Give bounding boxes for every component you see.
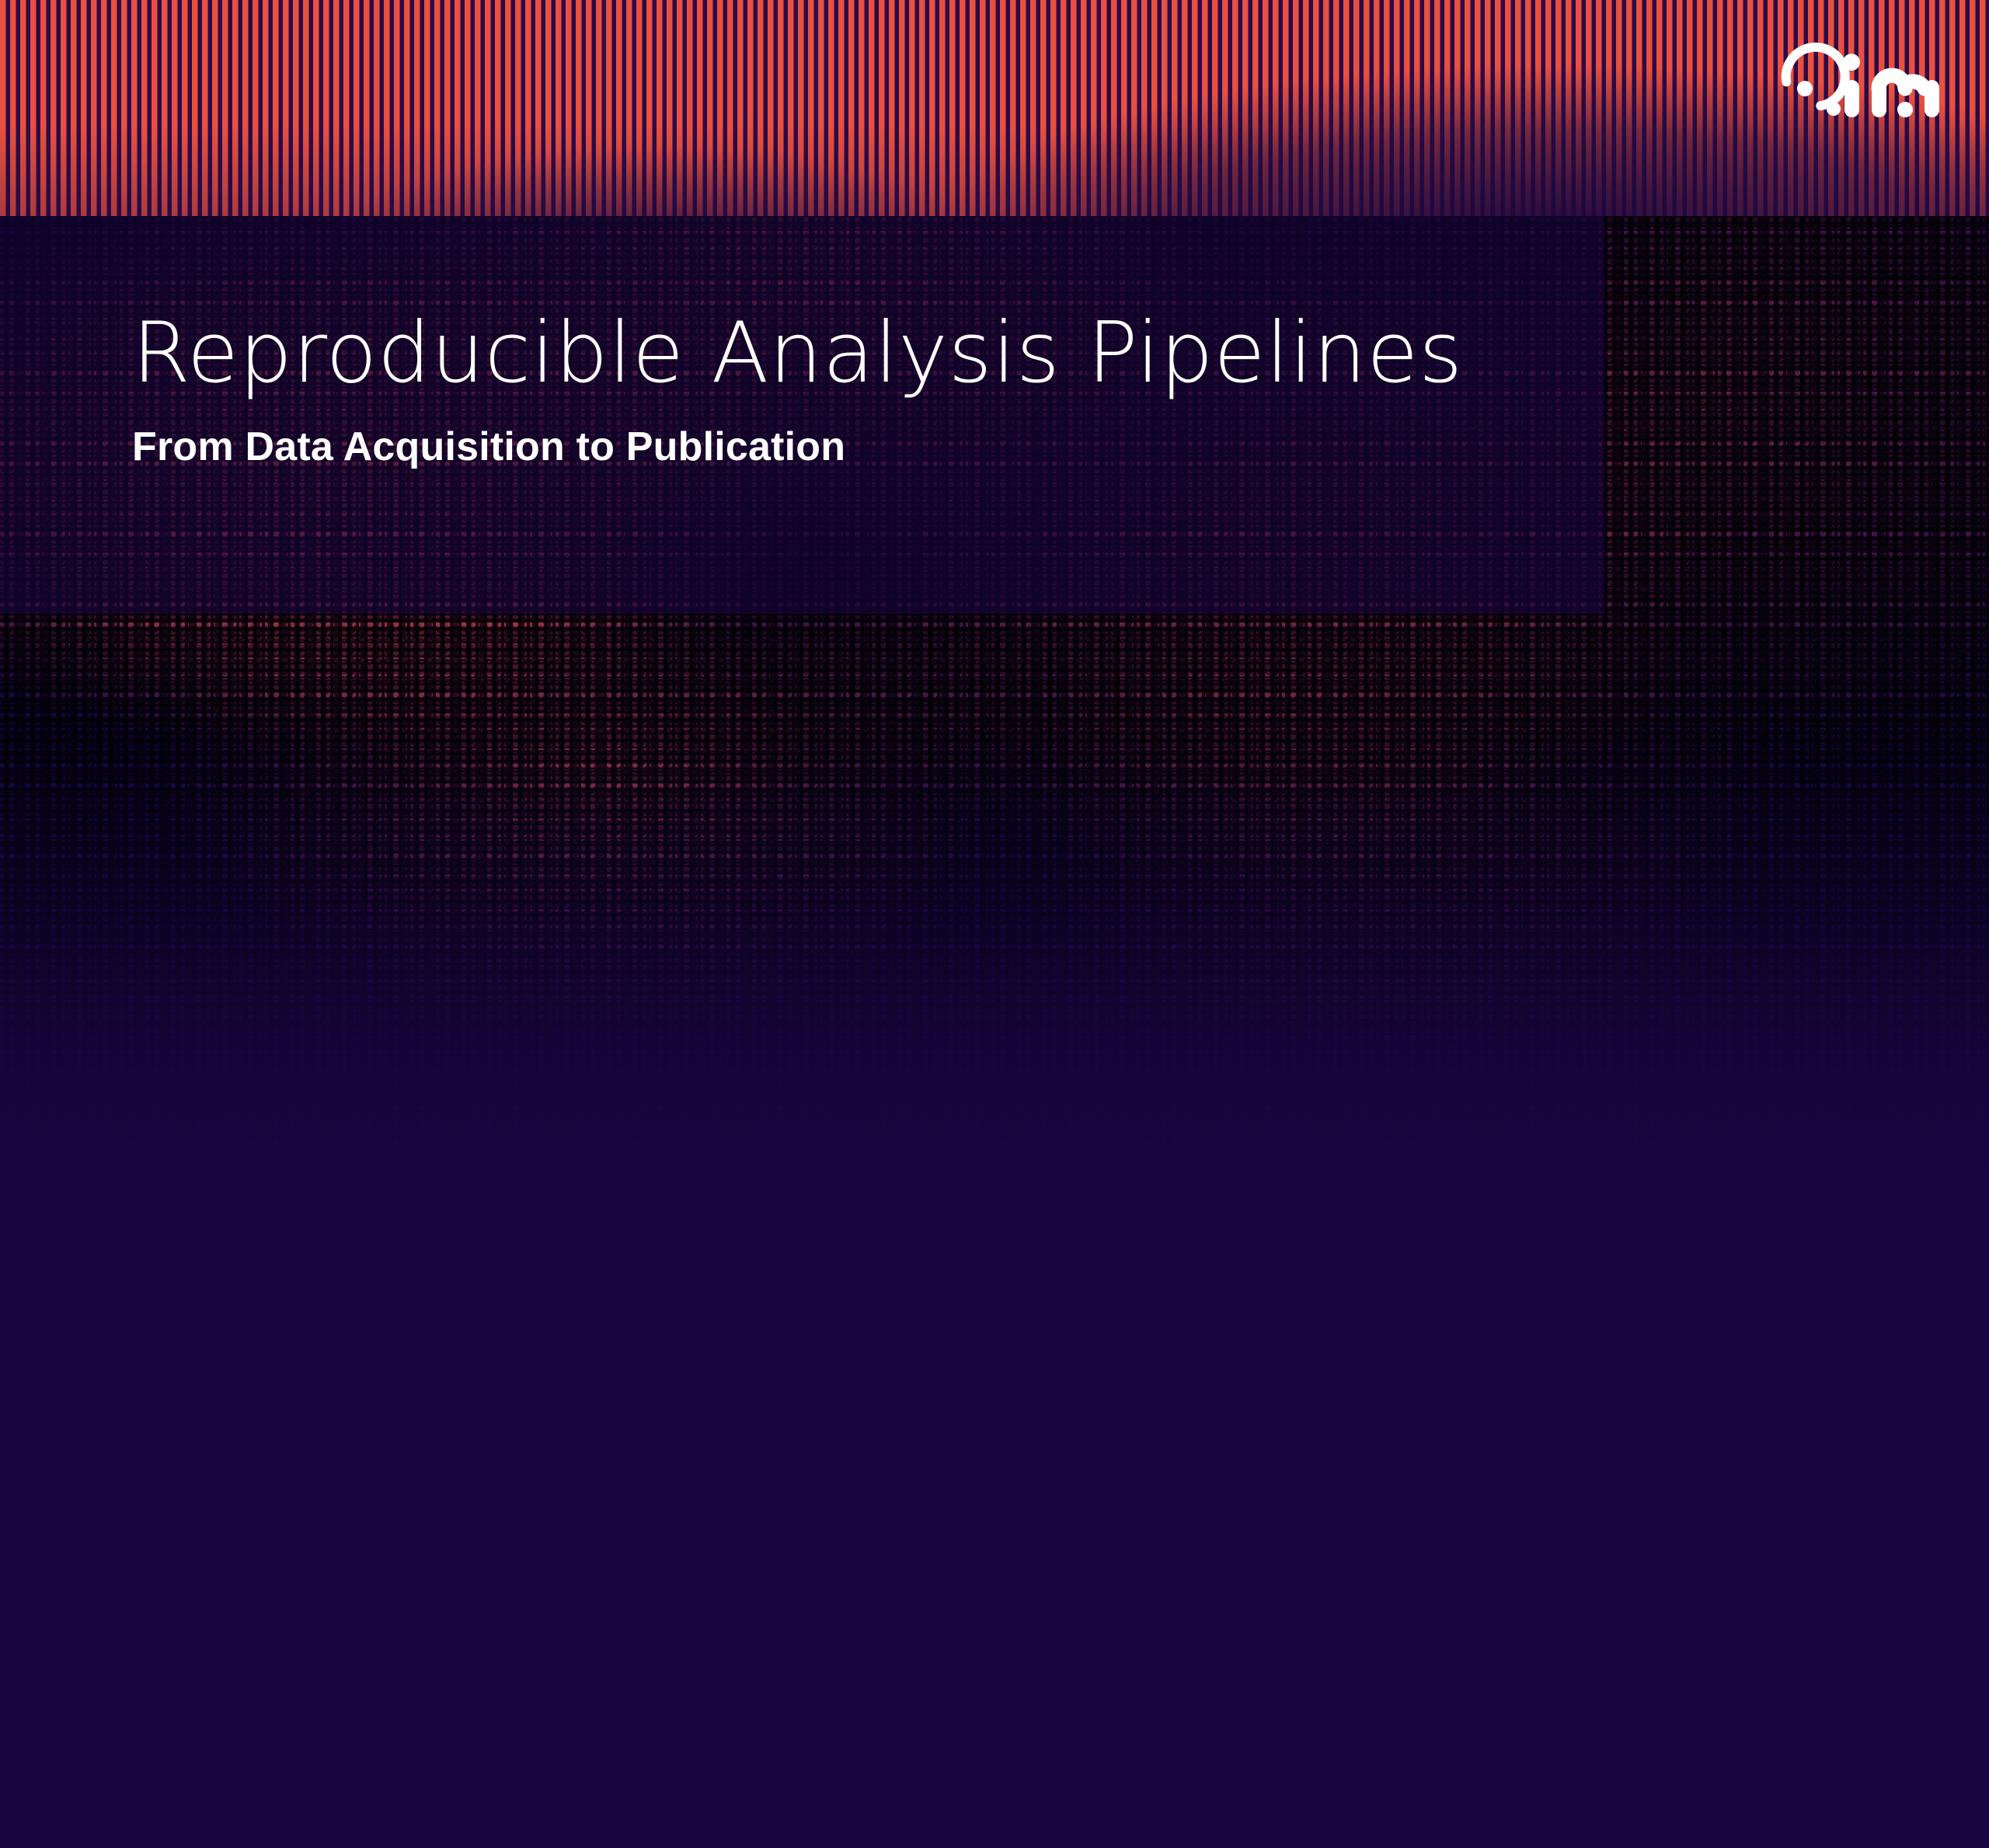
texture-bottom-fade <box>0 738 1989 1220</box>
page-subtitle: From Data Acquisition to Publication <box>132 424 1531 471</box>
page-title: Reproducible Analysis Pipelines <box>132 309 1531 398</box>
title-slide: Reproducible Analysis Pipelines From Dat… <box>0 0 1989 1848</box>
qim-logo-icon <box>1768 37 1946 132</box>
title-block: Reproducible Analysis Pipelines From Dat… <box>132 309 1531 471</box>
qim-logo <box>1768 37 1946 132</box>
vertical-stripe-band-mask <box>0 0 1989 216</box>
